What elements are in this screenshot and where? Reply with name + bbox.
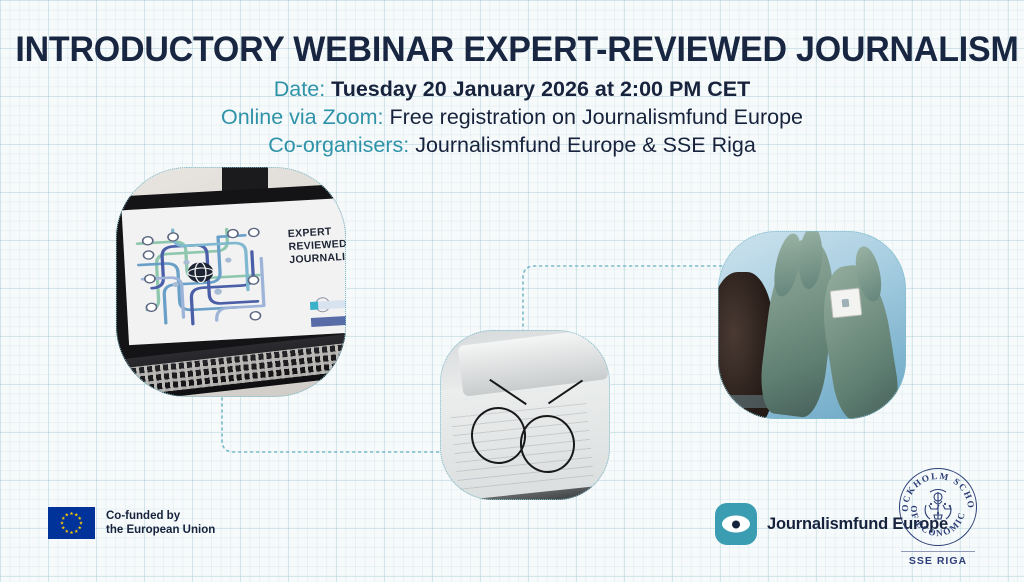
screen-eu-logo-icon [311, 315, 346, 326]
eu-flag-icon [48, 507, 95, 539]
eu-funding-logo: Co-funded by the European Union [48, 507, 215, 539]
eu-line-1: Co-funded by [106, 509, 215, 523]
eu-star [70, 531, 74, 535]
screen-jf-logo-icon [310, 299, 346, 310]
eye-pupil [732, 520, 740, 528]
detail-label-organisers: Co-organisers: [268, 133, 409, 157]
laptop-screen-text: EXPERT REVIEWED JOURNALISM [288, 224, 346, 267]
gloves-photo-image [718, 231, 906, 419]
eu-star [65, 513, 69, 517]
laptop-keyboard [116, 341, 346, 397]
eu-star [74, 513, 78, 517]
gloves-photo [718, 231, 906, 419]
eu-star [65, 529, 69, 533]
detail-label-online: Online via Zoom: [221, 105, 384, 129]
eye-icon [715, 503, 757, 545]
glasses-photo-image [440, 330, 610, 500]
eu-star [61, 516, 65, 520]
eu-line-2: the European Union [106, 523, 215, 537]
eu-star [61, 526, 65, 530]
sse-divider [901, 551, 975, 552]
detail-line-organisers: Co-organisers: Journalismfund Europe & S… [0, 132, 1024, 158]
sse-caption: SSE RIGA [886, 555, 990, 567]
laptop-body: EXPERT REVIEWED JOURNALISM [116, 183, 346, 391]
laptop-photo: EXPERT REVIEWED JOURNALISM [116, 167, 346, 397]
screen-logos [310, 297, 346, 327]
detail-line-online: Online via Zoom: Free registration on Jo… [0, 104, 1024, 130]
page-title: INTRODUCTORY WEBINAR EXPERT-REVIEWED JOU… [15, 30, 1008, 70]
detail-label-date: Date: [274, 77, 325, 101]
eu-star [74, 529, 78, 533]
detail-line-date: Date: Tuesday 20 January 2026 at 2:00 PM… [0, 76, 1024, 102]
eu-star [70, 512, 74, 516]
laptop-photo-image: EXPERT REVIEWED JOURNALISM [116, 167, 346, 397]
glasses-photo [440, 330, 610, 500]
metro-map-graphic [127, 209, 283, 336]
eu-star [78, 516, 82, 520]
eye-lens [722, 516, 750, 533]
sse-crest-icon [918, 485, 958, 529]
detail-value-organisers: Journalismfund Europe & SSE Riga [415, 133, 756, 157]
poster-canvas: INTRODUCTORY WEBINAR EXPERT-REVIEWED JOU… [0, 0, 1024, 582]
sse-seal-icon: STOCKHOLM SCHOOL OF ECONOMICS [899, 468, 977, 546]
chip-sample [829, 288, 862, 319]
eu-star [78, 526, 82, 530]
sse-riga-logo: STOCKHOLM SCHOOL OF ECONOMICS [886, 468, 990, 567]
eu-star [79, 521, 83, 525]
eu-star [60, 521, 64, 525]
eu-funding-text: Co-funded by the European Union [106, 509, 215, 537]
laptop-screen: EXPERT REVIEWED JOURNALISM [122, 196, 346, 344]
detail-value-online: Free registration on Journalismfund Euro… [390, 105, 804, 129]
detail-value-date: Tuesday 20 January 2026 at 2:00 PM CET [331, 77, 750, 101]
